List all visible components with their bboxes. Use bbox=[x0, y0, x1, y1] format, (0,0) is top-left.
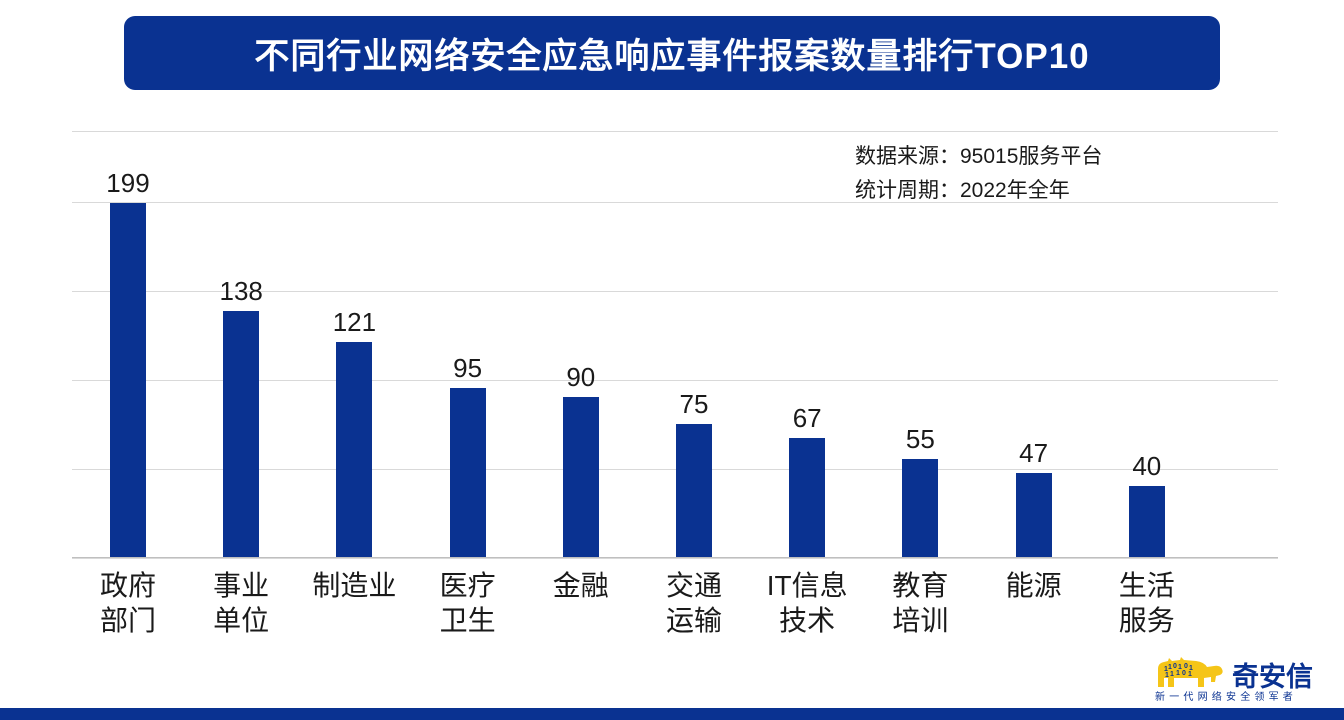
bar-group[interactable]: 40 bbox=[1129, 486, 1165, 557]
bar-group[interactable]: 199 bbox=[110, 203, 146, 557]
x-axis-label-line: 医疗 bbox=[403, 568, 533, 603]
x-axis-label: 生活服务 bbox=[1082, 568, 1212, 638]
bar[interactable] bbox=[676, 424, 712, 557]
x-axis-label-line: 运输 bbox=[629, 603, 759, 638]
bar[interactable] bbox=[336, 342, 372, 557]
bar[interactable] bbox=[1016, 473, 1052, 557]
bar-value-label: 55 bbox=[906, 424, 935, 455]
footer-accent-bar bbox=[0, 708, 1344, 720]
bar-group[interactable]: 67 bbox=[789, 438, 825, 557]
bar-series: 19913812195907567554740 bbox=[72, 131, 1278, 558]
chart-title-banner: 不同行业网络安全应急响应事件报案数量排行TOP10 bbox=[124, 16, 1220, 90]
svg-text:0: 0 bbox=[1173, 663, 1177, 670]
x-axis-label: 制造业 bbox=[289, 568, 419, 603]
bar[interactable] bbox=[110, 203, 146, 557]
x-axis-label-line: 政府 bbox=[63, 568, 193, 603]
bar-group[interactable]: 138 bbox=[223, 311, 259, 557]
svg-text:1: 1 bbox=[1170, 671, 1174, 678]
x-axis-label: 事业单位 bbox=[176, 568, 306, 638]
bar-value-label: 199 bbox=[106, 168, 149, 199]
svg-text:0: 0 bbox=[1184, 663, 1188, 670]
bar-group[interactable]: 55 bbox=[902, 459, 938, 557]
x-axis-label-line: 培训 bbox=[855, 603, 985, 638]
bar-value-label: 138 bbox=[219, 276, 262, 307]
bar-value-label: 47 bbox=[1019, 438, 1048, 469]
x-axis-label: 金融 bbox=[516, 568, 646, 603]
gridline bbox=[72, 558, 1278, 559]
lion-mark-icon: 1 1 0 1 0 1 1 1 1 0 1 bbox=[1152, 657, 1228, 689]
bar[interactable] bbox=[1129, 486, 1165, 557]
x-axis-label: IT信息技术 bbox=[742, 568, 872, 638]
bar[interactable] bbox=[450, 388, 486, 557]
bar[interactable] bbox=[223, 311, 259, 557]
x-axis-label-line: 部门 bbox=[63, 603, 193, 638]
bar-value-label: 40 bbox=[1132, 451, 1161, 482]
x-axis-label-line: 卫生 bbox=[403, 603, 533, 638]
x-axis-label-line: 生活 bbox=[1082, 568, 1212, 603]
x-axis-label-line: IT信息 bbox=[742, 568, 872, 603]
svg-text:1: 1 bbox=[1165, 672, 1169, 679]
x-axis-label-line: 单位 bbox=[176, 603, 306, 638]
bar-group[interactable]: 47 bbox=[1016, 473, 1052, 557]
brand-logo: 1 1 0 1 0 1 1 1 1 0 1 奇安信 新一代网络安全领军者 bbox=[1152, 655, 1328, 703]
x-axis-label-line: 事业 bbox=[176, 568, 306, 603]
bar-value-label: 95 bbox=[453, 353, 482, 384]
bar[interactable] bbox=[563, 397, 599, 557]
bar-group[interactable]: 75 bbox=[676, 424, 712, 557]
bar[interactable] bbox=[902, 459, 938, 557]
page-title: 不同行业网络安全应急响应事件报案数量排行TOP10 bbox=[254, 28, 1089, 79]
x-axis-label-line: 制造业 bbox=[289, 568, 419, 603]
x-axis-labels: 政府部门事业单位制造业医疗卫生金融交通运输IT信息技术教育培训能源生活服务 bbox=[72, 568, 1278, 658]
x-axis-label: 能源 bbox=[969, 568, 1099, 603]
x-axis-label-line: 能源 bbox=[969, 568, 1099, 603]
bar[interactable] bbox=[789, 438, 825, 557]
x-axis-label-line: 金融 bbox=[516, 568, 646, 603]
bar-group[interactable]: 95 bbox=[450, 388, 486, 557]
x-axis-label: 教育培训 bbox=[855, 568, 985, 638]
bar-value-label: 121 bbox=[333, 307, 376, 338]
x-axis-label-line: 技术 bbox=[742, 603, 872, 638]
bar-value-label: 67 bbox=[793, 403, 822, 434]
chart-plot-area: 19913812195907567554740 bbox=[72, 131, 1278, 558]
svg-text:1: 1 bbox=[1188, 671, 1192, 678]
bar-group[interactable]: 90 bbox=[563, 397, 599, 557]
brand-tagline: 新一代网络安全领军者 bbox=[1155, 688, 1297, 703]
x-axis-label: 交通运输 bbox=[629, 568, 759, 638]
x-axis-label-line: 交通 bbox=[629, 568, 759, 603]
svg-text:0: 0 bbox=[1182, 670, 1186, 677]
bar-value-label: 75 bbox=[680, 389, 709, 420]
svg-text:1: 1 bbox=[1168, 664, 1172, 671]
bar-value-label: 90 bbox=[566, 362, 595, 393]
x-axis-label-line: 服务 bbox=[1082, 603, 1212, 638]
x-axis-label: 医疗卫生 bbox=[403, 568, 533, 638]
x-axis-label-line: 教育 bbox=[855, 568, 985, 603]
x-axis-label: 政府部门 bbox=[63, 568, 193, 638]
svg-text:1: 1 bbox=[1176, 670, 1180, 677]
bar-group[interactable]: 121 bbox=[336, 342, 372, 557]
